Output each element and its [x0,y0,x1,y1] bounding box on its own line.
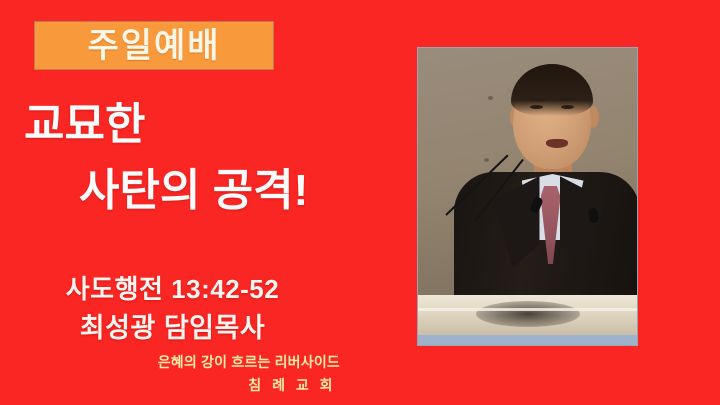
preacher-photo [417,47,638,346]
sermon-title-slide: 주일예배 교묘한 사탄의 공격! 사도행전 13:42-52 최성광 담임목사 … [0,0,720,405]
service-type-banner: 주일예배 [34,21,274,70]
wall-mark-icon [488,96,493,100]
preacher-name: 최성광 담임목사 [0,312,345,344]
sermon-meta: 사도행전 13:42-52 최성광 담임목사 [0,274,400,345]
church-identity: 은혜의 강이 흐르는 리버사이드 침 례 교 회 [0,354,340,394]
sermon-title-line-1: 교묘한 [24,103,400,147]
photo-mouth [546,139,568,148]
service-type-label: 주일예배 [87,29,220,63]
church-tagline: 은혜의 강이 흐르는 리버사이드 [0,354,340,372]
scripture-reference: 사도행전 13:42-52 [0,274,345,305]
photo-footer-strip [418,335,637,345]
sermon-title: 교묘한 사탄의 공격! [0,103,400,213]
photo-eyebrow-left [529,98,545,101]
photo-eye-right [561,105,574,109]
sermon-title-line-2: 사탄의 공격! [79,169,400,213]
church-name: 침 례 교 회 [0,377,340,395]
wall-mark-icon [484,158,489,162]
photo-eye-left [530,105,543,109]
photo-eyebrow-right [560,98,576,101]
photo-pulpit-emblem [476,301,580,327]
photo-pulpit-rail [418,308,637,311]
